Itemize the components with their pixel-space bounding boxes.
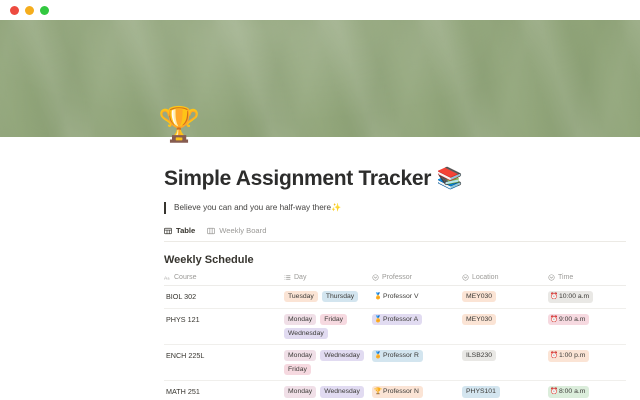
tag-day[interactable]: Friday bbox=[320, 314, 347, 325]
table-header-row: A a Course bbox=[164, 274, 626, 286]
tag-day[interactable]: Tuesday bbox=[284, 291, 318, 302]
cell-day[interactable]: MondayFridayWednesday bbox=[284, 308, 372, 344]
cover-shine-overlay bbox=[0, 20, 640, 137]
tab-table[interactable]: Table bbox=[164, 226, 195, 237]
select-icon bbox=[548, 274, 555, 281]
tag-label: Monday bbox=[288, 352, 312, 359]
table-row[interactable]: BIOL 302TuesdayThursday🏅Professor VMEY03… bbox=[164, 286, 626, 309]
column-header-course[interactable]: A a Course bbox=[164, 274, 284, 286]
tag-label: Thursday bbox=[326, 293, 354, 300]
svg-text:a: a bbox=[168, 276, 170, 280]
tag-group-time: ⏰9:00 a.m bbox=[548, 314, 620, 326]
tag-group-professor: 🏅Professor A bbox=[372, 314, 456, 326]
tag-day[interactable]: Wednesday bbox=[320, 386, 364, 397]
tag-emoji-icon: 🏅 bbox=[374, 316, 382, 323]
maximize-window-button[interactable] bbox=[40, 6, 49, 15]
minimize-window-button[interactable] bbox=[25, 6, 34, 15]
tag-label: PHYS101 bbox=[466, 388, 496, 395]
tag-group-location: MEY030 bbox=[462, 291, 542, 302]
tag-group-day: MondayWednesdayFriday bbox=[284, 350, 366, 375]
tag-emoji-icon: ⏰ bbox=[550, 388, 558, 395]
tag-location[interactable]: PHYS101 bbox=[462, 386, 500, 397]
cell-day[interactable]: MondayWednesdayFriday bbox=[284, 381, 372, 400]
table-row[interactable]: PHYS 121MondayFridayWednesday🏅Professor … bbox=[164, 308, 626, 344]
tag-time[interactable]: ⏰9:00 a.m bbox=[548, 314, 589, 326]
tag-label: Professor A bbox=[383, 316, 418, 323]
page-title[interactable]: Simple Assignment Tracker 📚 bbox=[164, 167, 640, 191]
column-header-professor[interactable]: Professor bbox=[372, 274, 462, 286]
cell-time[interactable]: ⏰8:00 a.m bbox=[548, 381, 626, 400]
tag-emoji-icon: 🏅 bbox=[374, 293, 382, 300]
tag-time[interactable]: ⏰10:00 a.m bbox=[548, 291, 593, 303]
cell-course[interactable]: ENCH 225L bbox=[164, 345, 284, 381]
tag-professor[interactable]: 🏅Professor R bbox=[372, 350, 423, 362]
cell-professor[interactable]: 🏅Professor A bbox=[372, 308, 462, 344]
tag-location[interactable]: ILSB230 bbox=[462, 350, 496, 361]
tag-group-time: ⏰8:00 a.m bbox=[548, 386, 620, 398]
tag-label: 1:00 p.m bbox=[559, 352, 585, 359]
cell-time[interactable]: ⏰1:00 p.m bbox=[548, 345, 626, 381]
weekly-schedule-table: A a Course bbox=[164, 274, 626, 400]
tag-label: MEY030 bbox=[466, 293, 492, 300]
tag-professor[interactable]: 🏅Professor A bbox=[372, 314, 422, 326]
tag-label: 8:00 a.m bbox=[559, 388, 585, 395]
select-icon bbox=[372, 274, 379, 281]
cell-course[interactable]: PHYS 121 bbox=[164, 308, 284, 344]
cell-course-text: ENCH 225L bbox=[166, 350, 204, 361]
tag-group-location: ILSB230 bbox=[462, 350, 542, 361]
tag-group-professor: 🏅Professor R bbox=[372, 350, 456, 362]
column-header-time-label: Time bbox=[558, 274, 573, 281]
tag-day[interactable]: Monday bbox=[284, 314, 316, 325]
tag-label: Professor V bbox=[383, 293, 419, 300]
text-property-icon: A a bbox=[164, 274, 171, 281]
cell-location[interactable]: PHYS101 bbox=[462, 381, 548, 400]
tag-day[interactable]: Thursday bbox=[322, 291, 358, 302]
multiselect-icon bbox=[284, 274, 291, 281]
tag-time[interactable]: ⏰1:00 p.m bbox=[548, 350, 589, 362]
tag-label: Monday bbox=[288, 316, 312, 323]
tag-label: 10:00 a.m bbox=[559, 293, 589, 300]
tag-emoji-icon: 🏅 bbox=[374, 352, 382, 359]
cell-professor[interactable]: 🏆Professor N bbox=[372, 381, 462, 400]
tag-label: Wednesday bbox=[324, 352, 360, 359]
page-quote-callout[interactable]: Believe you can and you are half-way the… bbox=[164, 202, 640, 214]
column-header-time[interactable]: Time bbox=[548, 274, 626, 286]
page-cover-image[interactable] bbox=[0, 20, 640, 137]
tag-day[interactable]: Wednesday bbox=[320, 350, 364, 361]
tag-day[interactable]: Monday bbox=[284, 350, 316, 361]
tab-weekly-board[interactable]: Weekly Board bbox=[207, 226, 266, 237]
tag-group-time: ⏰1:00 p.m bbox=[548, 350, 620, 362]
board-icon bbox=[207, 227, 215, 235]
tag-group-professor: 🏅Professor V bbox=[372, 291, 456, 303]
tag-group-location: PHYS101 bbox=[462, 386, 542, 397]
tag-label: 9:00 a.m bbox=[559, 316, 585, 323]
cell-day[interactable]: TuesdayThursday bbox=[284, 286, 372, 309]
tag-group-professor: 🏆Professor N bbox=[372, 386, 456, 398]
tag-emoji-icon: ⏰ bbox=[550, 352, 558, 359]
tag-group-location: MEY030 bbox=[462, 314, 542, 325]
column-header-location-label: Location bbox=[472, 274, 498, 281]
table-row[interactable]: MATH 251MondayWednesdayFriday🏆Professor … bbox=[164, 381, 626, 400]
cell-professor[interactable]: 🏅Professor V bbox=[372, 286, 462, 309]
cell-course-text: BIOL 302 bbox=[166, 291, 196, 302]
cell-location[interactable]: ILSB230 bbox=[462, 345, 548, 381]
database-view-tabs: Table Weekly Board bbox=[164, 226, 626, 242]
select-icon bbox=[462, 274, 469, 281]
tag-emoji-icon: ⏰ bbox=[550, 293, 558, 300]
tag-day[interactable]: Wednesday bbox=[284, 328, 328, 339]
table-row[interactable]: ENCH 225LMondayWednesdayFriday🏅Professor… bbox=[164, 345, 626, 381]
tag-location[interactable]: MEY030 bbox=[462, 314, 496, 325]
tag-professor[interactable]: 🏅Professor V bbox=[372, 291, 422, 303]
tab-weekly-board-label: Weekly Board bbox=[219, 226, 266, 235]
column-header-location[interactable]: Location bbox=[462, 274, 548, 286]
cell-day[interactable]: MondayWednesdayFriday bbox=[284, 345, 372, 381]
tag-emoji-icon: ⏰ bbox=[550, 316, 558, 323]
table-header: A a Course bbox=[164, 274, 626, 286]
page-body: Simple Assignment Tracker 📚 Believe you … bbox=[0, 167, 640, 400]
tag-label: Friday bbox=[288, 366, 307, 373]
cell-location[interactable]: MEY030 bbox=[462, 286, 548, 309]
cell-location[interactable]: MEY030 bbox=[462, 308, 548, 344]
tag-group-day: MondayWednesdayFriday bbox=[284, 386, 366, 400]
cell-course[interactable]: MATH 251 bbox=[164, 381, 284, 400]
tag-time[interactable]: ⏰8:00 a.m bbox=[548, 386, 589, 398]
tag-label: Professor N bbox=[383, 388, 419, 395]
column-header-day-label: Day bbox=[294, 274, 306, 281]
column-header-day[interactable]: Day bbox=[284, 274, 372, 286]
tag-label: ILSB230 bbox=[466, 352, 492, 359]
close-window-button[interactable] bbox=[10, 6, 19, 15]
cell-professor[interactable]: 🏅Professor R bbox=[372, 345, 462, 381]
tag-day[interactable]: Monday bbox=[284, 386, 316, 397]
tag-label: Professor R bbox=[383, 352, 419, 359]
tag-label: Friday bbox=[324, 316, 343, 323]
tag-group-day: TuesdayThursday bbox=[284, 291, 366, 302]
column-header-course-label: Course bbox=[174, 274, 197, 281]
trophy-page-icon[interactable]: 🏆 bbox=[158, 108, 200, 142]
tag-day[interactable]: Friday bbox=[284, 364, 311, 375]
database-title[interactable]: Weekly Schedule bbox=[164, 254, 640, 266]
cell-time[interactable]: ⏰9:00 a.m bbox=[548, 308, 626, 344]
tab-table-label: Table bbox=[176, 226, 195, 235]
tag-group-time: ⏰10:00 a.m bbox=[548, 291, 620, 303]
tag-label: Wednesday bbox=[288, 330, 324, 337]
cell-course-text: MATH 251 bbox=[166, 386, 200, 397]
tag-label: MEY030 bbox=[466, 316, 492, 323]
table-body: BIOL 302TuesdayThursday🏅Professor VMEY03… bbox=[164, 286, 626, 400]
window-titlebar bbox=[0, 0, 640, 20]
cell-time[interactable]: ⏰10:00 a.m bbox=[548, 286, 626, 309]
tag-location[interactable]: MEY030 bbox=[462, 291, 496, 302]
tag-label: Tuesday bbox=[288, 293, 314, 300]
cell-course-text: PHYS 121 bbox=[166, 314, 200, 325]
cell-course[interactable]: BIOL 302 bbox=[164, 286, 284, 309]
tag-emoji-icon: 🏆 bbox=[374, 388, 382, 395]
tag-label: Monday bbox=[288, 388, 312, 395]
tag-label: Wednesday bbox=[324, 388, 360, 395]
column-header-professor-label: Professor bbox=[382, 274, 412, 281]
tag-professor[interactable]: 🏆Professor N bbox=[372, 386, 423, 398]
table-icon bbox=[164, 227, 172, 235]
tag-group-day: MondayFridayWednesday bbox=[284, 314, 366, 339]
